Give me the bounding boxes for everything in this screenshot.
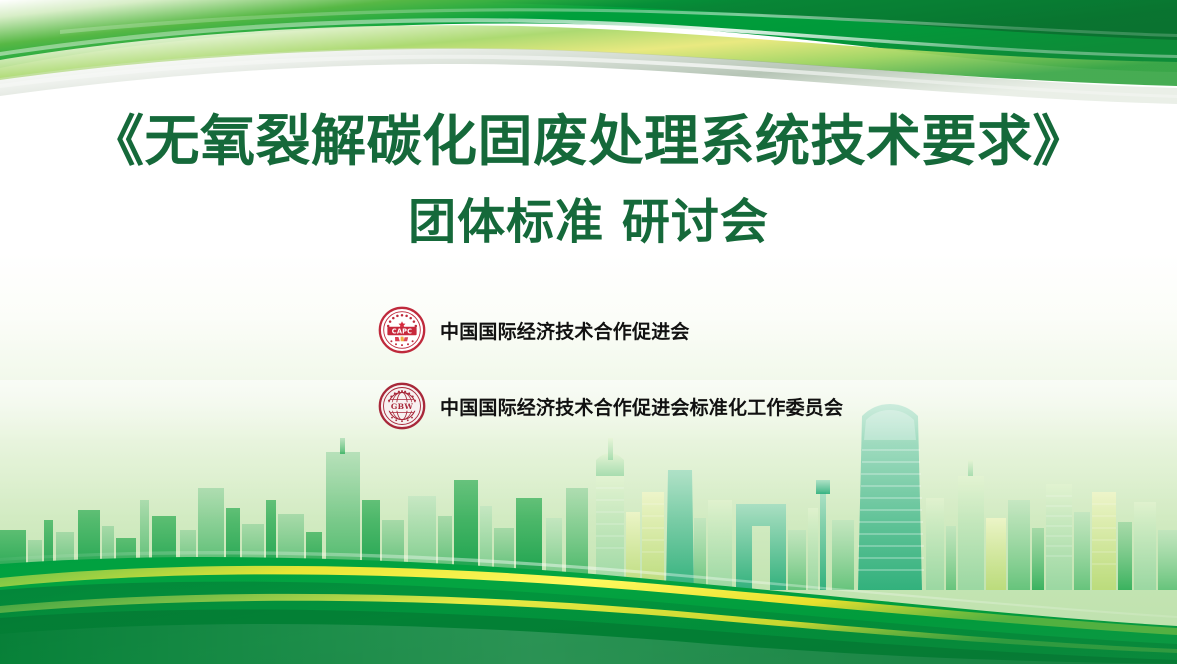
list-item: CAPC 中国国际经济技术合作促进会 (378, 306, 1138, 354)
gbw-seal-icon: GBW (378, 382, 426, 430)
organization-list: CAPC 中国国际经济技术合作促进会 (378, 306, 1138, 458)
svg-text:GBW: GBW (391, 402, 414, 411)
capc-seal-icon: CAPC (378, 306, 426, 354)
slide-content: 《无氧裂解碳化固废处理系统技术要求》 团体标准 研讨会 (0, 0, 1177, 664)
organization-name: 中国国际经济技术合作促进会 (440, 317, 690, 344)
svg-text:CAPC: CAPC (392, 327, 412, 335)
page-subtitle: 团体标准 研讨会 (0, 196, 1177, 249)
list-item: GBW (378, 382, 1138, 430)
title-block: 《无氧裂解碳化固废处理系统技术要求》 团体标准 研讨会 (0, 112, 1177, 249)
page-title: 《无氧裂解碳化固废处理系统技术要求》 (0, 112, 1177, 170)
presentation-slide: 《无氧裂解碳化固废处理系统技术要求》 团体标准 研讨会 (0, 0, 1177, 664)
organization-name: 中国国际经济技术合作促进会标准化工作委员会 (440, 393, 843, 420)
